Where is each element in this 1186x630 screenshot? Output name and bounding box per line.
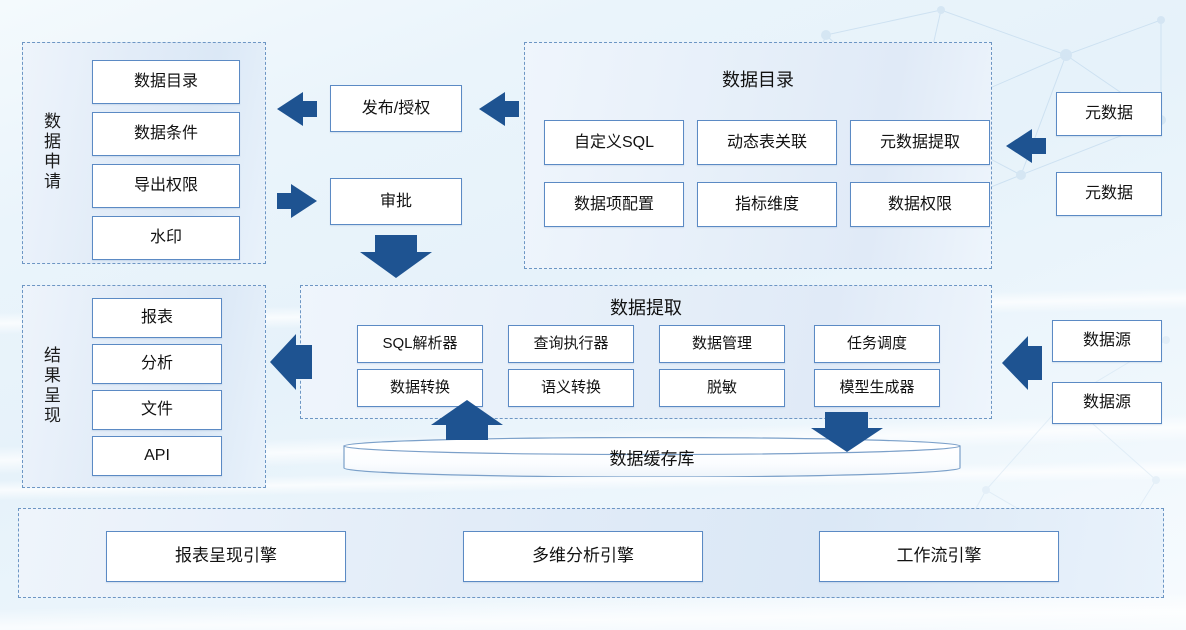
extract-item-semantic-transform-label: 语义转换 bbox=[541, 380, 601, 397]
data-cache-store[interactable]: 数据缓存库 bbox=[342, 437, 962, 477]
data-request-item-3[interactable]: 导出权限 bbox=[92, 164, 240, 208]
engine-workflow-label: 工作流引擎 bbox=[897, 547, 982, 566]
data-source-2[interactable]: 数据源 bbox=[1052, 382, 1162, 424]
catalog-item-metadata-extract-label: 元数据提取 bbox=[880, 134, 960, 152]
diagram-canvas: 数据申请 数据目录 数据条件 导出权限 水印 发布/授权 审批 数据目录 自定义… bbox=[0, 0, 1186, 630]
engine-workflow[interactable]: 工作流引擎 bbox=[819, 531, 1059, 582]
catalog-item-data-permission-label: 数据权限 bbox=[888, 196, 952, 214]
data-request-item-3-label: 导出权限 bbox=[134, 177, 198, 195]
result-item-analysis[interactable]: 分析 bbox=[92, 344, 222, 384]
arrow-metadata-to-catalog bbox=[1006, 125, 1046, 167]
arrow-request-to-approve bbox=[277, 180, 317, 222]
engine-multidim-analysis-label: 多维分析引擎 bbox=[532, 547, 634, 566]
data-source-1-label: 数据源 bbox=[1083, 332, 1131, 350]
approve-label: 审批 bbox=[380, 193, 412, 211]
data-request-item-1-label: 数据目录 bbox=[134, 73, 198, 91]
engine-report-presentation[interactable]: 报表呈现引擎 bbox=[106, 531, 346, 582]
publish-authorize-box[interactable]: 发布/授权 bbox=[330, 85, 462, 132]
extract-item-semantic-transform[interactable]: 语义转换 bbox=[508, 369, 634, 407]
arrow-publish-to-request bbox=[277, 88, 317, 130]
extract-item-sql-parser-label: SQL解析器 bbox=[382, 336, 457, 353]
catalog-item-metadata-extract[interactable]: 元数据提取 bbox=[850, 120, 990, 165]
extract-item-query-executor-label: 查询执行器 bbox=[533, 336, 608, 353]
arrow-catalog-to-publish bbox=[479, 88, 519, 130]
approve-box[interactable]: 审批 bbox=[330, 178, 462, 225]
result-presentation-panel-label: 结果呈现 bbox=[33, 300, 59, 472]
result-item-report-label: 报表 bbox=[141, 309, 173, 327]
extract-item-query-executor[interactable]: 查询执行器 bbox=[508, 325, 634, 363]
catalog-item-metric-dimension-label: 指标维度 bbox=[735, 196, 799, 214]
engine-report-presentation-label: 报表呈现引擎 bbox=[175, 547, 277, 566]
arrow-datasource-to-extraction bbox=[1002, 330, 1042, 396]
extract-item-data-transform[interactable]: 数据转换 bbox=[357, 369, 483, 407]
metadata-source-1-label: 元数据 bbox=[1085, 105, 1133, 123]
data-source-1[interactable]: 数据源 bbox=[1052, 320, 1162, 362]
metadata-source-1[interactable]: 元数据 bbox=[1056, 92, 1162, 136]
data-request-panel-label: 数据申请 bbox=[33, 62, 59, 242]
metadata-source-2-label: 元数据 bbox=[1085, 185, 1133, 203]
result-item-file-label: 文件 bbox=[141, 401, 173, 419]
metadata-source-2[interactable]: 元数据 bbox=[1056, 172, 1162, 216]
extract-item-desensitization[interactable]: 脱敏 bbox=[659, 369, 785, 407]
data-catalog-panel-title: 数据目录 bbox=[524, 66, 992, 92]
catalog-item-data-field-config[interactable]: 数据项配置 bbox=[544, 182, 684, 227]
extract-item-task-scheduling[interactable]: 任务调度 bbox=[814, 325, 940, 363]
catalog-item-custom-sql-label: 自定义SQL bbox=[574, 134, 654, 152]
data-request-item-2-label: 数据条件 bbox=[134, 125, 198, 143]
engine-multidim-analysis[interactable]: 多维分析引擎 bbox=[463, 531, 703, 582]
extract-item-sql-parser[interactable]: SQL解析器 bbox=[357, 325, 483, 363]
data-request-item-1[interactable]: 数据目录 bbox=[92, 60, 240, 104]
extract-item-data-management[interactable]: 数据管理 bbox=[659, 325, 785, 363]
data-source-2-label: 数据源 bbox=[1083, 394, 1131, 412]
data-request-item-4[interactable]: 水印 bbox=[92, 216, 240, 260]
result-item-api-label: API bbox=[144, 447, 170, 465]
result-item-analysis-label: 分析 bbox=[141, 355, 173, 373]
data-request-item-2[interactable]: 数据条件 bbox=[92, 112, 240, 156]
extract-item-model-generator[interactable]: 模型生成器 bbox=[814, 369, 940, 407]
result-item-report[interactable]: 报表 bbox=[92, 298, 222, 338]
extract-item-model-generator-label: 模型生成器 bbox=[839, 380, 914, 397]
catalog-item-data-field-config-label: 数据项配置 bbox=[574, 196, 654, 214]
extract-item-data-management-label: 数据管理 bbox=[692, 336, 752, 353]
catalog-item-dynamic-table-join-label: 动态表关联 bbox=[727, 134, 807, 152]
catalog-item-data-permission[interactable]: 数据权限 bbox=[850, 182, 990, 227]
data-extraction-panel-title: 数据提取 bbox=[300, 294, 992, 320]
extract-item-task-scheduling-label: 任务调度 bbox=[847, 336, 907, 353]
extract-item-desensitization-label: 脱敏 bbox=[707, 380, 737, 397]
catalog-item-custom-sql[interactable]: 自定义SQL bbox=[544, 120, 684, 165]
arrow-approve-to-extraction bbox=[360, 235, 432, 278]
result-item-api[interactable]: API bbox=[92, 436, 222, 476]
extract-item-data-transform-label: 数据转换 bbox=[390, 380, 450, 397]
data-request-item-4-label: 水印 bbox=[150, 229, 182, 247]
data-cache-store-label: 数据缓存库 bbox=[342, 445, 962, 470]
catalog-item-dynamic-table-join[interactable]: 动态表关联 bbox=[697, 120, 837, 165]
catalog-item-metric-dimension[interactable]: 指标维度 bbox=[697, 182, 837, 227]
result-item-file[interactable]: 文件 bbox=[92, 390, 222, 430]
publish-authorize-label: 发布/授权 bbox=[362, 100, 430, 118]
